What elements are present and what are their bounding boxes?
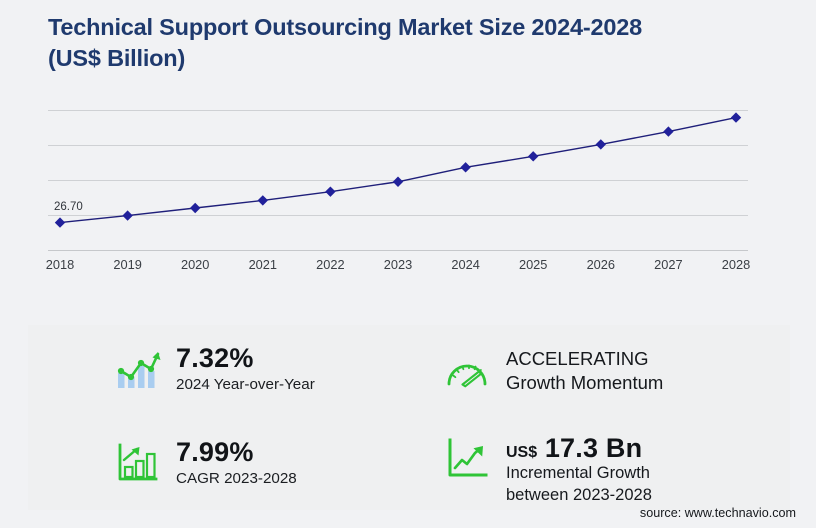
series-marker: [122, 210, 132, 220]
series-marker: [663, 126, 673, 136]
kpi-momentum-label: Growth Momentum: [506, 371, 663, 395]
chart-x-tick-label: 2022: [300, 257, 360, 272]
speedometer-icon: [446, 351, 492, 395]
kpi-incremental-amount: 17.3 Bn: [545, 433, 642, 463]
chart-axis-line: [48, 250, 748, 251]
kpi-cagr: 7.99% CAGR 2023-2028: [116, 437, 297, 489]
kpi-incremental-growth: US$ 17.3 Bn Incremental Growth between 2…: [446, 433, 652, 507]
series-marker: [325, 186, 335, 196]
chart-x-tick-label: 2018: [30, 257, 90, 272]
chart-x-tick-label: 2021: [233, 257, 293, 272]
kpi-incremental-value: US$ 17.3 Bn: [506, 433, 652, 463]
chart-x-tick-label: 2019: [98, 257, 158, 272]
series-marker: [393, 177, 403, 187]
kpi-growth-momentum: ACCELERATING Growth Momentum: [446, 347, 663, 395]
page-title-line-2: (US$ Billion): [48, 43, 748, 74]
kpi-cagr-label: CAGR 2023-2028: [176, 469, 297, 488]
series-marker: [596, 139, 606, 149]
series-marker: [460, 162, 470, 172]
series-marker: [55, 217, 65, 227]
kpi-incremental-label-1: Incremental Growth: [506, 463, 652, 485]
kpi-momentum-headline: ACCELERATING: [506, 347, 663, 371]
series-marker: [258, 195, 268, 205]
chart-x-axis: 2018201920202021202220232024202520262027…: [48, 257, 748, 281]
kpi-yoy-value: 7.32%: [176, 343, 315, 373]
chart-x-tick-label: 2020: [165, 257, 225, 272]
source-attribution: source: www.technavio.com: [640, 506, 796, 520]
series-marker: [528, 151, 538, 161]
market-size-line-chart: 26.70 2018201920202021202220232024202520…: [0, 92, 816, 282]
chart-x-tick-label: 2023: [368, 257, 428, 272]
bar-chart-trend-icon: [116, 347, 162, 391]
kpi-year-over-year: 7.32% 2024 Year-over-Year: [116, 343, 315, 395]
kpi-yoy-label: 2024 Year-over-Year: [176, 375, 315, 394]
series-polyline: [60, 118, 736, 223]
chart-x-tick-label: 2025: [503, 257, 563, 272]
series-marker: [190, 203, 200, 213]
bar-chart-arrow-icon: [116, 441, 162, 485]
chart-x-tick-label: 2024: [436, 257, 496, 272]
series-marker: [731, 112, 741, 122]
chart-x-tick-label: 2026: [571, 257, 631, 272]
page-title: Technical Support Outsourcing Market Siz…: [48, 12, 748, 74]
kpi-cagr-value: 7.99%: [176, 437, 297, 467]
chart-data-label: 26.70: [54, 201, 83, 213]
line-chart-arrow-icon: [446, 437, 492, 481]
kpi-incremental-label-2: between 2023-2028: [506, 485, 652, 507]
infographic-page: Technical Support Outsourcing Market Siz…: [0, 0, 816, 528]
chart-x-tick-label: 2027: [638, 257, 698, 272]
kpi-panel: 7.32% 2024 Year-over-Year: [28, 325, 790, 510]
chart-series-line: [48, 92, 748, 252]
kpi-incremental-unit: US$: [506, 444, 537, 461]
page-title-line-1: Technical Support Outsourcing Market Siz…: [48, 12, 748, 43]
chart-x-tick-label: 2028: [706, 257, 766, 272]
